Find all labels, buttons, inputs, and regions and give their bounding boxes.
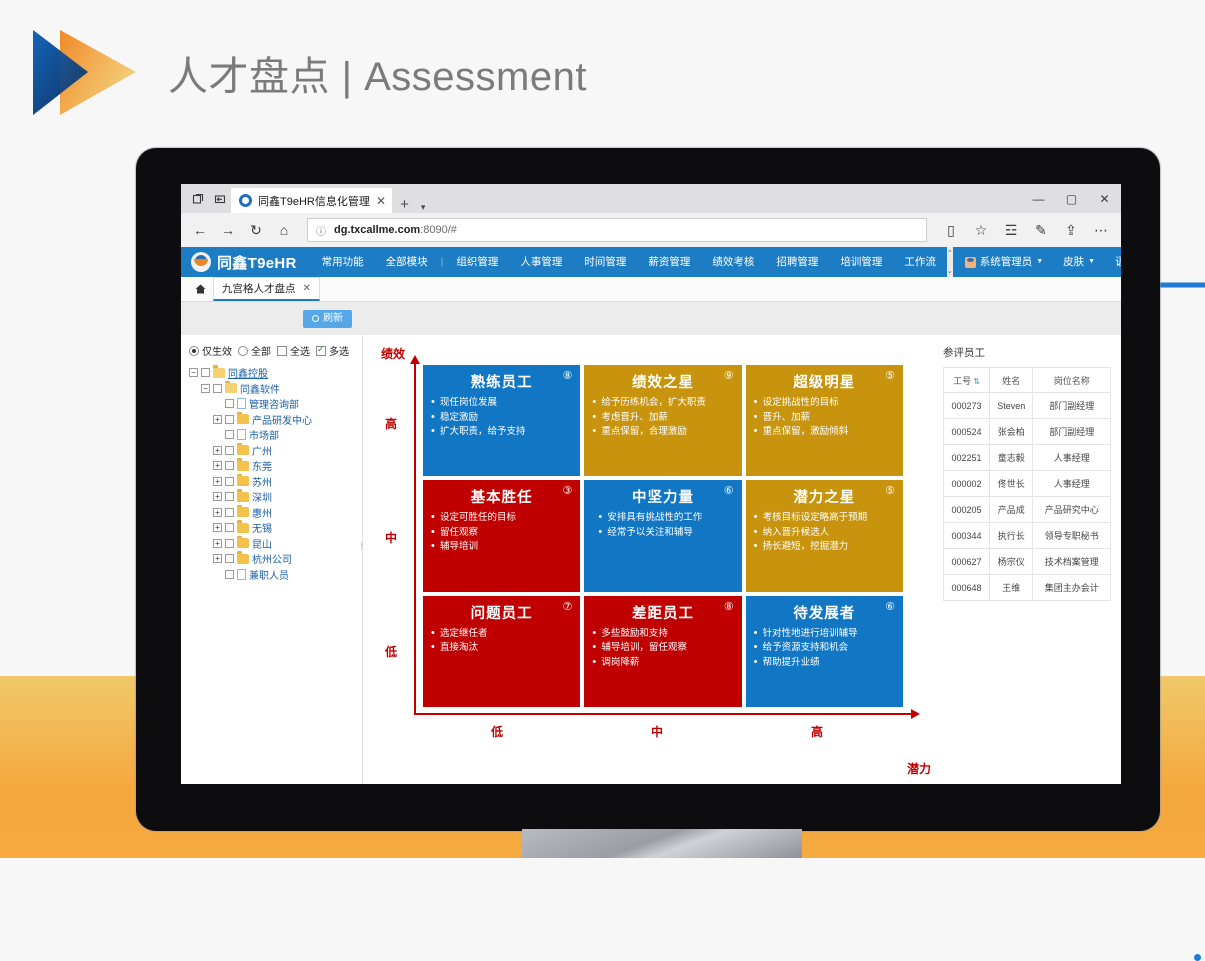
brand-logo-icon	[191, 252, 211, 272]
menu-item-7[interactable]: 招聘管理	[765, 247, 829, 277]
x-axis-label: 潜力	[907, 760, 931, 777]
tree-node-label: 东莞	[252, 458, 272, 473]
laptop-screen: 同鑫T9eHR信息化管理系 ✕ + ▾ — ▢ ✕ ← → ↻ ⌂ ⓘ	[181, 184, 1121, 784]
more-icon[interactable]: ⋯	[1087, 217, 1115, 243]
cell-action-item: 调岗降薪	[592, 656, 733, 671]
cell-action-item: 经常予以关注和辅导	[598, 526, 733, 541]
folder-icon	[237, 523, 249, 533]
cell-action-list: 设定可胜任的目标留任观察辅导培训	[431, 511, 572, 555]
y-tick-mid: 中	[385, 529, 397, 546]
radio-icon[interactable]	[189, 346, 199, 356]
cell-count-badge: ⑧	[724, 600, 734, 613]
new-tab-button[interactable]: +	[400, 196, 409, 213]
cell-action-item: 安排具有挑战性的工作	[598, 511, 733, 526]
expand-icon[interactable]: +	[213, 415, 222, 424]
tree-filters: 仅生效全部全选多选	[189, 343, 356, 358]
expand-icon[interactable]: +	[213, 477, 222, 486]
table-row[interactable]: 000273Steven部门副经理	[944, 393, 1111, 419]
table-cell: 产品研究中心	[1033, 497, 1111, 523]
cell-action-list: 给予历练机会，扩大职责考虑晋升、加薪重点保留，合理激励	[592, 396, 733, 440]
browser-tab-strip: 同鑫T9eHR信息化管理系 ✕ + ▾ — ▢ ✕	[181, 184, 1121, 213]
nine-box-cell[interactable]: ⑥待发展者针对性地进行培训辅导给予资源支持和机会帮助提升业绩	[746, 596, 903, 707]
cell-action-item: 多些鼓励和支持	[592, 627, 733, 642]
table-cell: 杨宗仪	[990, 549, 1033, 575]
tree-node-label: 深圳	[252, 489, 272, 504]
page-icon	[237, 398, 246, 409]
menu-scroll-buttons[interactable]: ⌃ ⌄	[947, 247, 953, 277]
tree-checkbox[interactable]	[225, 430, 234, 439]
double-arrow-logo-icon	[28, 25, 148, 120]
employee-panel: 参评员工 工号⇅姓名岗位名称 000273Steven部门副经理000524张会…	[933, 335, 1121, 784]
refresh-label: 刷新	[323, 314, 343, 324]
filter-label: 全部	[251, 343, 271, 358]
cell-count-badge: ⑥	[885, 600, 895, 613]
tree-checkbox[interactable]	[225, 554, 234, 563]
collapse-icon[interactable]: −	[201, 384, 210, 393]
table-cell: 产品成	[990, 497, 1033, 523]
laptop-stand	[522, 829, 802, 858]
cell-title: 问题员工	[431, 602, 572, 623]
table-cell: 000524	[944, 419, 990, 445]
tree-node[interactable]: +昆山	[189, 536, 356, 552]
cell-action-item: 考核目标设定略高于预期	[754, 511, 895, 526]
folder-icon	[237, 538, 249, 548]
cell-action-item: 扩大职责，给予支持	[431, 425, 572, 440]
cell-action-item: 留任观察	[431, 526, 572, 541]
tree-node-label: 无锡	[252, 520, 272, 535]
maximize-button[interactable]: ▢	[1055, 184, 1088, 213]
cell-action-list: 现任岗位发展稳定激励扩大职责，给予支持	[431, 396, 572, 440]
filter-1[interactable]: 全部	[238, 343, 271, 358]
tree-checkbox[interactable]	[213, 384, 222, 393]
table-row[interactable]: 000524张会柏部门副经理	[944, 419, 1111, 445]
browser-tab[interactable]: 同鑫T9eHR信息化管理系 ✕	[231, 188, 392, 213]
menu-item-4[interactable]: 时间管理	[573, 247, 637, 277]
cell-action-list: 设定挑战性的目标晋升、加薪重点保留，激励倾斜	[754, 396, 895, 440]
skin-label: 皮肤	[1063, 247, 1084, 277]
employee-table: 工号⇅姓名岗位名称 000273Steven部门副经理000524张会柏部门副经…	[943, 367, 1111, 601]
menu-item-language[interactable]: 语言 ▼	[1105, 247, 1121, 277]
tree-node-label: 管理咨询部	[249, 396, 299, 411]
folder-open-icon	[225, 383, 237, 393]
nine-box-cell[interactable]: ⑧差距员工多些鼓励和支持辅导培训，留任观察调岗降薪	[584, 596, 741, 707]
filter-label: 全选	[290, 343, 310, 358]
folder-icon	[237, 554, 249, 564]
expand-icon[interactable]: +	[213, 508, 222, 517]
forward-icon[interactable]: →	[215, 217, 241, 243]
table-cell: 人事经理	[1033, 445, 1111, 471]
tree-node[interactable]: −同鑫控股	[189, 365, 356, 381]
refresh-button[interactable]: 刷新	[303, 310, 352, 328]
browser-tab-label: 同鑫T9eHR信息化管理系	[258, 193, 370, 209]
menu-item-8[interactable]: 培训管理	[829, 247, 893, 277]
cell-action-list: 选定继任者直接淘汰	[431, 627, 572, 656]
employee-table-body: 000273Steven部门副经理000524张会柏部门副经理002251童志毅…	[944, 393, 1111, 601]
tree-node-label: 惠州	[252, 505, 272, 520]
table-cell: 执行长	[990, 523, 1033, 549]
cell-action-item: 选定继任者	[431, 627, 572, 642]
cell-action-item: 针对性地进行培训辅导	[754, 627, 895, 642]
x-tick-high: 高	[811, 723, 823, 740]
tree-checkbox[interactable]	[225, 399, 234, 408]
cell-action-item: 考虑晋升、加薪	[592, 411, 733, 426]
table-cell: 童志毅	[990, 445, 1033, 471]
user-icon	[965, 257, 976, 268]
tree-node-label: 苏州	[252, 474, 272, 489]
cell-count-badge: ⑥	[724, 484, 734, 497]
table-cell: 佟世长	[990, 471, 1033, 497]
table-cell: 集团主办会计	[1033, 575, 1111, 601]
nine-box-cell[interactable]: ⑧熟练员工现任岗位发展稳定激励扩大职责，给予支持	[423, 365, 580, 476]
address-bar[interactable]: ⓘ dg.txcallme.com:8090/#	[307, 218, 927, 242]
reading-view-icon[interactable]: ▯	[937, 217, 965, 243]
indicator-dot	[1194, 954, 1201, 961]
menu-item-admin[interactable]: 系统管理员 ▼	[955, 247, 1053, 277]
page-content: 仅生效全部全选多选 −同鑫控股−同鑫软件管理咨询部+产品研发中心市场部+广州+东…	[181, 335, 1121, 784]
url-path: :8090/#	[420, 224, 457, 236]
tree-checkbox[interactable]	[225, 492, 234, 501]
table-row[interactable]: 000648王维集团主办会计	[944, 575, 1111, 601]
filter-3[interactable]: 多选	[316, 343, 349, 358]
tree-node[interactable]: +深圳	[189, 489, 356, 505]
page-icon	[237, 569, 246, 580]
tab-list-icon[interactable]	[187, 184, 209, 213]
employee-panel-title: 参评员工	[943, 345, 1111, 360]
table-cell: 人事经理	[1033, 471, 1111, 497]
table-row[interactable]: 000002佟世长人事经理	[944, 471, 1111, 497]
expand-icon[interactable]: +	[213, 523, 222, 532]
tree-node[interactable]: +杭州公司	[189, 551, 356, 567]
tree-checkbox[interactable]	[225, 415, 234, 424]
folder-icon	[237, 414, 249, 424]
tree-node[interactable]: 兼职人员	[189, 567, 356, 583]
url-host: dg.txcallme.com	[334, 224, 420, 236]
cell-action-item: 设定可胜任的目标	[431, 511, 572, 526]
cell-count-badge: ⑤	[885, 369, 895, 382]
table-column-header[interactable]: 岗位名称	[1033, 368, 1111, 393]
home-icon[interactable]: ⌂	[271, 217, 297, 243]
table-cell: 领导专职秘书	[1033, 523, 1111, 549]
app-navigation-bar: 同鑫T9eHR 常用功能全部模块|组织管理人事管理时间管理薪资管理绩效考核招聘管…	[181, 247, 1121, 277]
app-user-menu: 系统管理员 ▼ 皮肤 ▼ 语言 ▼	[955, 247, 1121, 277]
cell-action-list: 安排具有挑战性的工作经常予以关注和辅导	[592, 511, 733, 540]
x-axis-line	[414, 713, 911, 715]
language-label: 语言	[1115, 247, 1121, 277]
cell-action-item: 纳入晋升候选人	[754, 526, 895, 541]
window-controls: — ▢ ✕	[1022, 184, 1121, 213]
folder-icon	[237, 461, 249, 471]
scroll-down-icon[interactable]: ⌄	[947, 267, 953, 275]
checkbox-icon[interactable]	[316, 346, 326, 356]
tree-node[interactable]: +产品研发中心	[189, 412, 356, 428]
cell-action-item: 稳定激励	[431, 411, 572, 426]
tree-spacer	[213, 430, 222, 439]
x-tick-low: 低	[491, 723, 503, 740]
expand-icon[interactable]: +	[213, 446, 222, 455]
doc-tab-label: 九宫格人才盘点	[222, 281, 296, 296]
globe-icon	[239, 194, 252, 207]
cell-action-item: 现任岗位发展	[431, 396, 572, 411]
back-icon[interactable]: ←	[187, 217, 213, 243]
tree-node-label: 产品研发中心	[252, 412, 312, 427]
nine-box-grid: ⑧熟练员工现任岗位发展稳定激励扩大职责，给予支持⑨绩效之星给予历练机会，扩大职责…	[423, 365, 903, 707]
table-cell: 000344	[944, 523, 990, 549]
cell-action-item: 辅导培训	[431, 540, 572, 555]
org-tree: −同鑫控股−同鑫软件管理咨询部+产品研发中心市场部+广州+东莞+苏州+深圳+惠州…	[189, 365, 356, 582]
tree-checkbox[interactable]	[225, 570, 234, 579]
cell-title: 基本胜任	[431, 486, 572, 507]
filter-0[interactable]: 仅生效	[189, 343, 232, 358]
tree-node-label: 市场部	[249, 427, 279, 442]
cell-count-badge: ⑨	[724, 369, 734, 382]
table-column-header[interactable]: 姓名	[990, 368, 1033, 393]
cell-action-item: 扬长避短，挖掘潜力	[754, 540, 895, 555]
cell-title: 差距员工	[592, 602, 733, 623]
tree-checkbox[interactable]	[225, 461, 234, 470]
chevron-down-icon: ▼	[1036, 247, 1043, 277]
table-cell: 002251	[944, 445, 990, 471]
tab-nine-box-assessment[interactable]: 九宫格人才盘点 ✕	[213, 277, 320, 301]
cell-title: 中坚力量	[592, 486, 733, 507]
cell-count-badge: ⑦	[562, 600, 572, 613]
laptop-mockup: 同鑫T9eHR信息化管理系 ✕ + ▾ — ▢ ✕ ← → ↻ ⌂ ⓘ	[136, 148, 1160, 831]
chevron-down-icon[interactable]: ▾	[421, 202, 426, 213]
site-info-icon[interactable]: ⓘ	[316, 223, 326, 238]
folder-icon	[237, 507, 249, 517]
table-row[interactable]: 000205产品成产品研究中心	[944, 497, 1111, 523]
cell-action-item: 重点保留，激励倾斜	[754, 425, 895, 440]
tree-spacer	[213, 399, 222, 408]
tree-checkbox[interactable]	[201, 368, 210, 377]
page-title: 人才盘点 | Assessment	[168, 44, 587, 102]
tree-checkbox[interactable]	[225, 539, 234, 548]
cell-title: 超级明星	[754, 371, 895, 392]
menu-item-5[interactable]: 薪资管理	[637, 247, 701, 277]
expand-icon[interactable]: +	[213, 461, 222, 470]
expand-icon[interactable]: +	[213, 492, 222, 501]
cell-action-item: 给予历练机会，扩大职责	[592, 396, 733, 411]
app-brand[interactable]: 同鑫T9eHR	[181, 252, 311, 273]
menu-item-1[interactable]: 全部模块	[375, 247, 439, 277]
tree-node[interactable]: +无锡	[189, 520, 356, 536]
scroll-up-icon[interactable]: ⌃	[947, 249, 953, 257]
table-cell: 000002	[944, 471, 990, 497]
nine-box-cell[interactable]: ⑥中坚力量安排具有挑战性的工作经常予以关注和辅导	[584, 480, 741, 591]
menu-item-2[interactable]: 组织管理	[445, 247, 509, 277]
tree-node-label: 同鑫控股	[228, 365, 268, 380]
restore-tabs-icon[interactable]	[209, 184, 231, 213]
nine-box-cell[interactable]: ⑤潜力之星考核目标设定略高于预期纳入晋升候选人扬长避短，挖掘潜力	[746, 480, 903, 591]
menu-item-skin[interactable]: 皮肤 ▼	[1053, 247, 1105, 277]
org-tree-sidebar: 仅生效全部全选多选 −同鑫控股−同鑫软件管理咨询部+产品研发中心市场部+广州+东…	[181, 335, 363, 784]
nine-box-chart: 绩效 潜力 高 中 低 低 中 高 ⑧熟练员工现任岗位发展稳定激励扩大职责，给予…	[363, 335, 933, 784]
cell-title: 待发展者	[754, 602, 895, 623]
collapse-icon[interactable]: −	[189, 368, 198, 377]
table-cell: 部门副经理	[1033, 419, 1111, 445]
table-cell: Steven	[990, 393, 1033, 419]
cell-action-item: 给予资源支持和机会	[754, 641, 895, 656]
table-row[interactable]: 000344执行长领导专职秘书	[944, 523, 1111, 549]
table-row[interactable]: 000627杨宗仪技术档案管理	[944, 549, 1111, 575]
nine-box-cell[interactable]: ⑤超级明星设定挑战性的目标晋升、加薪重点保留，激励倾斜	[746, 365, 903, 476]
checkbox-icon[interactable]	[277, 346, 287, 356]
close-icon[interactable]: ✕	[303, 283, 311, 294]
share-icon[interactable]: ⇪	[1057, 217, 1085, 243]
table-row[interactable]: 002251童志毅人事经理	[944, 445, 1111, 471]
tree-node[interactable]: −同鑫软件	[189, 381, 356, 397]
folder-open-icon	[213, 368, 225, 378]
brand-name: 同鑫T9eHR	[217, 252, 297, 273]
cell-count-badge: ③	[562, 484, 572, 497]
web-note-icon[interactable]: ✎	[1027, 217, 1055, 243]
favorite-star-icon[interactable]: ☆	[967, 217, 995, 243]
table-cell: 王维	[990, 575, 1033, 601]
tree-node[interactable]: 市场部	[189, 427, 356, 443]
laptop-indicator-dots	[1194, 954, 1205, 961]
menu-item-3[interactable]: 人事管理	[509, 247, 573, 277]
tree-node-label: 兼职人员	[249, 567, 289, 582]
document-tab-bar: 九宫格人才盘点 ✕	[181, 277, 1121, 302]
cell-action-item: 设定挑战性的目标	[754, 396, 895, 411]
tree-node[interactable]: +东莞	[189, 458, 356, 474]
tree-node[interactable]: +广州	[189, 443, 356, 459]
admin-label: 系统管理员	[980, 247, 1033, 277]
table-cell: 000273	[944, 393, 990, 419]
cell-count-badge: ⑧	[562, 369, 572, 382]
cell-action-item: 帮助提升业绩	[754, 656, 895, 671]
cell-title: 绩效之星	[592, 371, 733, 392]
table-cell: 部门副经理	[1033, 393, 1111, 419]
nine-box-cell[interactable]: ③基本胜任设定可胜任的目标留任观察辅导培训	[423, 480, 580, 591]
expand-icon[interactable]: +	[213, 539, 222, 548]
table-cell: 000648	[944, 575, 990, 601]
nine-box-cell[interactable]: ⑦问题员工选定继任者直接淘汰	[423, 596, 580, 707]
home-icon[interactable]	[187, 277, 213, 301]
table-cell: 000205	[944, 497, 990, 523]
y-tick-high: 高	[385, 415, 397, 432]
minimize-button[interactable]: —	[1022, 184, 1055, 213]
menu-item-0[interactable]: 常用功能	[311, 247, 375, 277]
cell-action-item: 辅导培训，留任观察	[592, 641, 733, 656]
refresh-icon	[312, 315, 319, 322]
expand-icon[interactable]: +	[213, 554, 222, 563]
close-window-button[interactable]: ✕	[1088, 184, 1121, 213]
tree-checkbox[interactable]	[225, 523, 234, 532]
page-toolbar: 刷新	[181, 302, 1121, 335]
tree-spacer	[213, 570, 222, 579]
cell-title: 熟练员工	[431, 371, 572, 392]
tree-node-label: 杭州公司	[252, 551, 292, 566]
tree-node[interactable]: +苏州	[189, 474, 356, 490]
hub-icon[interactable]: ☲	[997, 217, 1025, 243]
tree-node-label: 昆山	[252, 536, 272, 551]
filter-label: 仅生效	[202, 343, 232, 358]
sort-icon[interactable]: ⇅	[973, 377, 980, 386]
tree-node-label: 同鑫软件	[240, 381, 280, 396]
tree-node[interactable]: +惠州	[189, 505, 356, 521]
menu-item-6[interactable]: 绩效考核	[701, 247, 765, 277]
cell-action-list: 多些鼓励和支持辅导培训，留任观察调岗降薪	[592, 627, 733, 671]
tree-node[interactable]: 管理咨询部	[189, 396, 356, 412]
nine-box-cell[interactable]: ⑨绩效之星给予历练机会，扩大职责考虑晋升、加薪重点保留，合理激励	[584, 365, 741, 476]
table-column-header[interactable]: 工号⇅	[944, 368, 990, 393]
employee-table-head: 工号⇅姓名岗位名称	[944, 368, 1111, 393]
close-icon[interactable]: ✕	[376, 194, 386, 208]
cell-action-item: 重点保留，合理激励	[592, 425, 733, 440]
table-cell: 000627	[944, 549, 990, 575]
folder-icon	[237, 445, 249, 455]
folder-icon	[237, 492, 249, 502]
y-tick-low: 低	[385, 643, 397, 660]
radio-icon[interactable]	[238, 346, 248, 356]
y-axis-line	[414, 363, 416, 715]
browser-toolbar-icons: ▯ ☆ ☲ ✎ ⇪ ⋯	[937, 217, 1115, 243]
cell-title: 潜力之星	[754, 486, 895, 507]
table-cell: 技术档案管理	[1033, 549, 1111, 575]
cell-action-list: 考核目标设定略高于预期纳入晋升候选人扬长避短，挖掘潜力	[754, 511, 895, 555]
menu-item-9[interactable]: 工作流	[893, 247, 947, 277]
tree-checkbox[interactable]	[225, 508, 234, 517]
y-axis-label: 绩效	[381, 345, 405, 362]
tree-checkbox[interactable]	[225, 477, 234, 486]
table-cell: 张会柏	[990, 419, 1033, 445]
chevron-down-icon: ▼	[1088, 247, 1095, 277]
cell-action-item: 晋升、加薪	[754, 411, 895, 426]
cell-action-list: 针对性地进行培训辅导给予资源支持和机会帮助提升业绩	[754, 627, 895, 671]
cell-count-badge: ⑤	[885, 484, 895, 497]
page-icon	[237, 429, 246, 440]
folder-icon	[237, 476, 249, 486]
app-menu: 常用功能全部模块|组织管理人事管理时间管理薪资管理绩效考核招聘管理培训管理工作流	[311, 247, 947, 277]
filter-label: 多选	[329, 343, 349, 358]
page-header: 人才盘点 | Assessment	[28, 25, 587, 120]
browser-window: 同鑫T9eHR信息化管理系 ✕ + ▾ — ▢ ✕ ← → ↻ ⌂ ⓘ	[181, 184, 1121, 784]
tree-node-label: 广州	[252, 443, 272, 458]
cell-action-item: 直接淘汰	[431, 641, 572, 656]
menu-separator: |	[439, 256, 446, 268]
filter-2[interactable]: 全选	[277, 343, 310, 358]
reload-icon[interactable]: ↻	[243, 217, 269, 243]
browser-navbar: ← → ↻ ⌂ ⓘ dg.txcallme.com:8090/# ▯ ☆ ☲ ✎…	[181, 213, 1121, 247]
tree-checkbox[interactable]	[225, 446, 234, 455]
x-tick-mid: 中	[651, 723, 663, 740]
table-header-row: 工号⇅姓名岗位名称	[944, 368, 1111, 393]
